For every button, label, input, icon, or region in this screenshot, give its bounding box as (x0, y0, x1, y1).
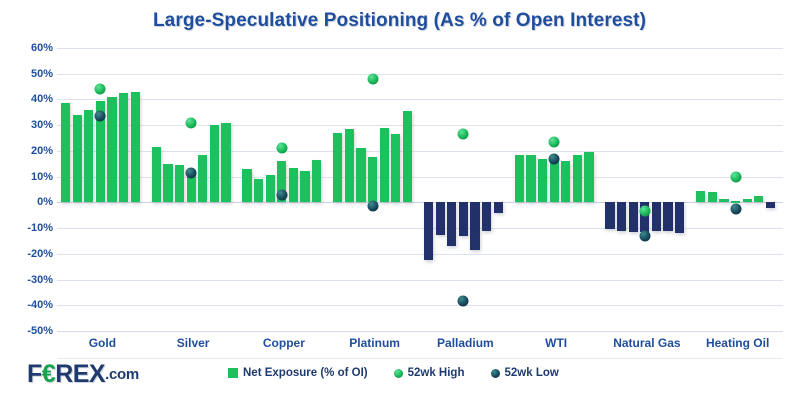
bar (526, 155, 535, 203)
chart-legend: Net Exposure (% of OI)52wk High52wk Low (228, 367, 559, 379)
marker-52wk-low (730, 203, 741, 214)
y-axis-tick-30: 30% (7, 119, 53, 131)
bar (436, 202, 445, 234)
bar (312, 160, 321, 202)
legend-square-icon (228, 368, 238, 378)
bar (482, 202, 491, 230)
legend-label: 52wk Low (505, 367, 559, 379)
marker-52wk-low (276, 189, 287, 200)
bar (424, 202, 433, 260)
bar (391, 134, 400, 202)
bar (163, 164, 172, 203)
bar (470, 202, 479, 250)
bar (675, 202, 684, 233)
logo-letters-rex: REX (55, 362, 105, 387)
bar (210, 125, 219, 202)
marker-52wk-high (458, 129, 469, 140)
marker-52wk-low (95, 111, 106, 122)
y-axis-labels: 60%50%40%30%20%10%0%-10%-20%-30%-40%-50% (0, 48, 53, 331)
bar (629, 202, 638, 232)
x-axis-label-platinum: Platinum (329, 336, 420, 350)
bar (617, 202, 626, 230)
legend-item-2: 52wk Low (491, 367, 559, 379)
marker-52wk-high (639, 206, 650, 217)
bar (550, 159, 559, 203)
bar (289, 168, 298, 203)
bar (561, 161, 570, 202)
bar (663, 202, 672, 230)
y-axis-tick--20: -20% (7, 248, 53, 260)
bar (696, 191, 705, 203)
bar (300, 171, 309, 202)
marker-52wk-low (549, 153, 560, 164)
marker-52wk-low (186, 167, 197, 178)
y-axis-tick-50: 50% (7, 68, 53, 80)
marker-52wk-low (458, 296, 469, 307)
bar (198, 155, 207, 203)
bar (356, 148, 365, 202)
y-axis-tick-40: 40% (7, 93, 53, 105)
bar (175, 165, 184, 202)
bar (242, 169, 251, 202)
y-axis-tick-20: 20% (7, 145, 53, 157)
bar (584, 152, 593, 202)
legend-circle-icon (394, 369, 403, 378)
bar (538, 159, 547, 203)
bar (754, 196, 763, 202)
y-axis-tick--30: -30% (7, 274, 53, 286)
bar (605, 202, 614, 229)
logo-dotcom: .com (105, 366, 139, 383)
y-axis-tick--10: -10% (7, 222, 53, 234)
y-axis-tick-60: 60% (7, 42, 53, 54)
bar (403, 111, 412, 202)
bar-group-gold (57, 48, 148, 331)
marker-52wk-low (639, 230, 650, 241)
bar-group-copper (239, 48, 330, 331)
bar (131, 92, 140, 203)
logo-letter-f: F (27, 362, 42, 387)
bar (61, 103, 70, 202)
x-axis-line (57, 331, 783, 332)
logo-euro-icon: € (42, 362, 55, 387)
bar (333, 133, 342, 202)
bar (380, 128, 389, 203)
x-axis-label-silver: Silver (148, 336, 239, 350)
x-axis-label-wti: WTI (511, 336, 602, 350)
legend-label: Net Exposure (% of OI) (243, 367, 368, 379)
bar-group-wti (511, 48, 602, 331)
plot-area (57, 48, 783, 331)
y-axis-tick-0: 0% (7, 196, 53, 208)
bar (719, 199, 728, 203)
bar-group-silver (148, 48, 239, 331)
bar (345, 129, 354, 202)
bar (766, 202, 775, 207)
marker-52wk-high (730, 171, 741, 182)
x-axis-label-natural-gas: Natural Gas (602, 336, 693, 350)
x-axis-label-copper: Copper (239, 336, 330, 350)
marker-52wk-high (367, 73, 378, 84)
x-axis-label-gold: Gold (57, 336, 148, 350)
legend-label: 52wk High (408, 367, 465, 379)
bar (494, 202, 503, 212)
y-axis-tick--50: -50% (7, 325, 53, 337)
bar-group-heating-oil (692, 48, 783, 331)
bar (459, 202, 468, 235)
legend-item-1: 52wk High (394, 367, 465, 379)
legend-circle-icon (491, 369, 500, 378)
bar (708, 192, 717, 202)
x-axis-label-palladium: Palladium (420, 336, 511, 350)
bar (221, 123, 230, 203)
marker-52wk-low (367, 201, 378, 212)
bar (266, 175, 275, 202)
bar (515, 155, 524, 203)
bar-group-natural-gas (602, 48, 693, 331)
bar-group-platinum (329, 48, 420, 331)
bar (152, 147, 161, 202)
y-axis-tick-10: 10% (7, 171, 53, 183)
marker-52wk-high (95, 84, 106, 95)
bar (254, 179, 263, 202)
x-axis-label-heating-oil: Heating Oil (692, 336, 783, 350)
bar-group-palladium (420, 48, 511, 331)
marker-52wk-high (186, 117, 197, 128)
bar (447, 202, 456, 246)
bar (368, 157, 377, 202)
bar (84, 110, 93, 203)
marker-52wk-high (549, 136, 560, 147)
bar (73, 115, 82, 202)
legend-item-0: Net Exposure (% of OI) (228, 367, 368, 379)
footer-divider (57, 358, 783, 359)
bar (119, 93, 128, 202)
forex-logo: F€REX.com (27, 361, 139, 387)
chart-screenshot: Large-Speculative Positioning (As % of O… (0, 0, 799, 400)
bar (743, 199, 752, 203)
chart-title: Large-Speculative Positioning (As % of O… (0, 10, 799, 32)
bar (107, 97, 116, 202)
bar (652, 202, 661, 230)
y-axis-tick--40: -40% (7, 299, 53, 311)
marker-52wk-high (276, 143, 287, 154)
bar (573, 155, 582, 203)
